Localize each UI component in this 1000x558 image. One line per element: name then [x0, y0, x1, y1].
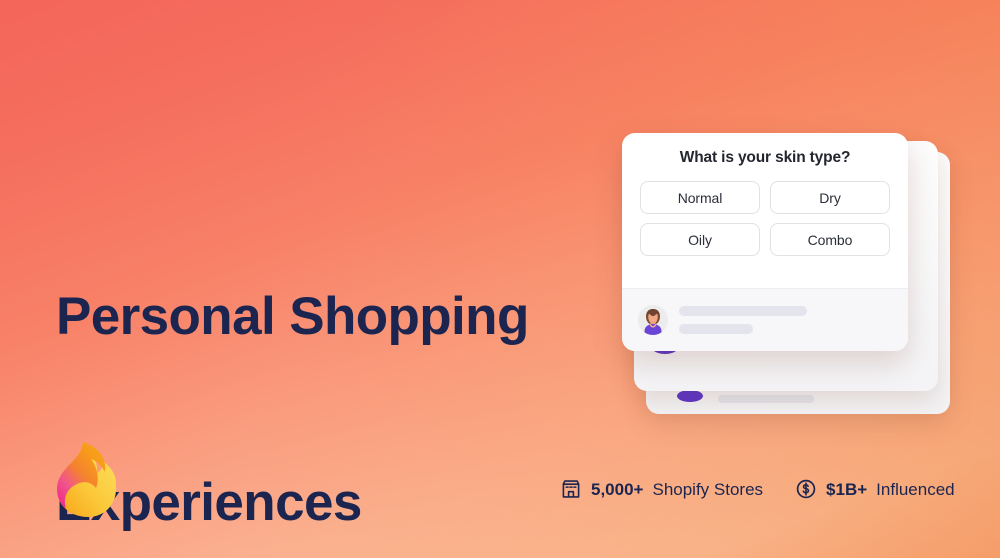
headline-line-2: Experiences	[56, 472, 529, 534]
peek-message-bar-3	[718, 395, 814, 403]
quiz-body: What is your skin type? Normal Dry Oily …	[622, 133, 908, 270]
page-title: Personal Shopping Experiences Powered by…	[56, 162, 529, 558]
stat-influenced: $1B+ Influenced	[795, 478, 955, 500]
flame-logo-icon	[52, 438, 124, 520]
quiz-option-dry[interactable]: Dry	[770, 181, 890, 214]
headline-line-1: Personal Shopping	[56, 286, 529, 348]
message-placeholder-lines	[679, 306, 807, 334]
quiz-question: What is your skin type?	[640, 149, 890, 167]
message-bar-short	[679, 324, 753, 334]
stat-shopify-stores: 5,000+ Shopify Stores	[560, 478, 763, 500]
quiz-options: Normal Dry Oily Combo	[640, 181, 890, 256]
stat-label-stores: Shopify Stores	[652, 481, 763, 498]
quiz-option-normal[interactable]: Normal	[640, 181, 760, 214]
message-bar-long	[679, 306, 807, 316]
quiz-option-combo[interactable]: Combo	[770, 223, 890, 256]
stat-value-influenced: $1B+	[826, 481, 867, 498]
flame-logo	[52, 438, 124, 520]
quiz-card-stack: What is your skin type? Normal Dry Oily …	[620, 130, 950, 392]
user-avatar-icon	[638, 305, 668, 335]
dollar-circle-icon	[795, 478, 817, 500]
storefront-icon	[560, 478, 582, 500]
stats-row: 5,000+ Shopify Stores $1B+ Influenced	[560, 478, 955, 500]
quiz-card: What is your skin type? Normal Dry Oily …	[622, 133, 908, 351]
message-preview	[622, 288, 908, 351]
stat-label-influenced: Influenced	[876, 481, 954, 498]
quiz-option-oily[interactable]: Oily	[640, 223, 760, 256]
hero-banner: Personal Shopping Experiences Powered by…	[0, 0, 1000, 558]
peek-avatar-3-icon	[677, 390, 703, 402]
stat-value-stores: 5,000+	[591, 481, 643, 498]
